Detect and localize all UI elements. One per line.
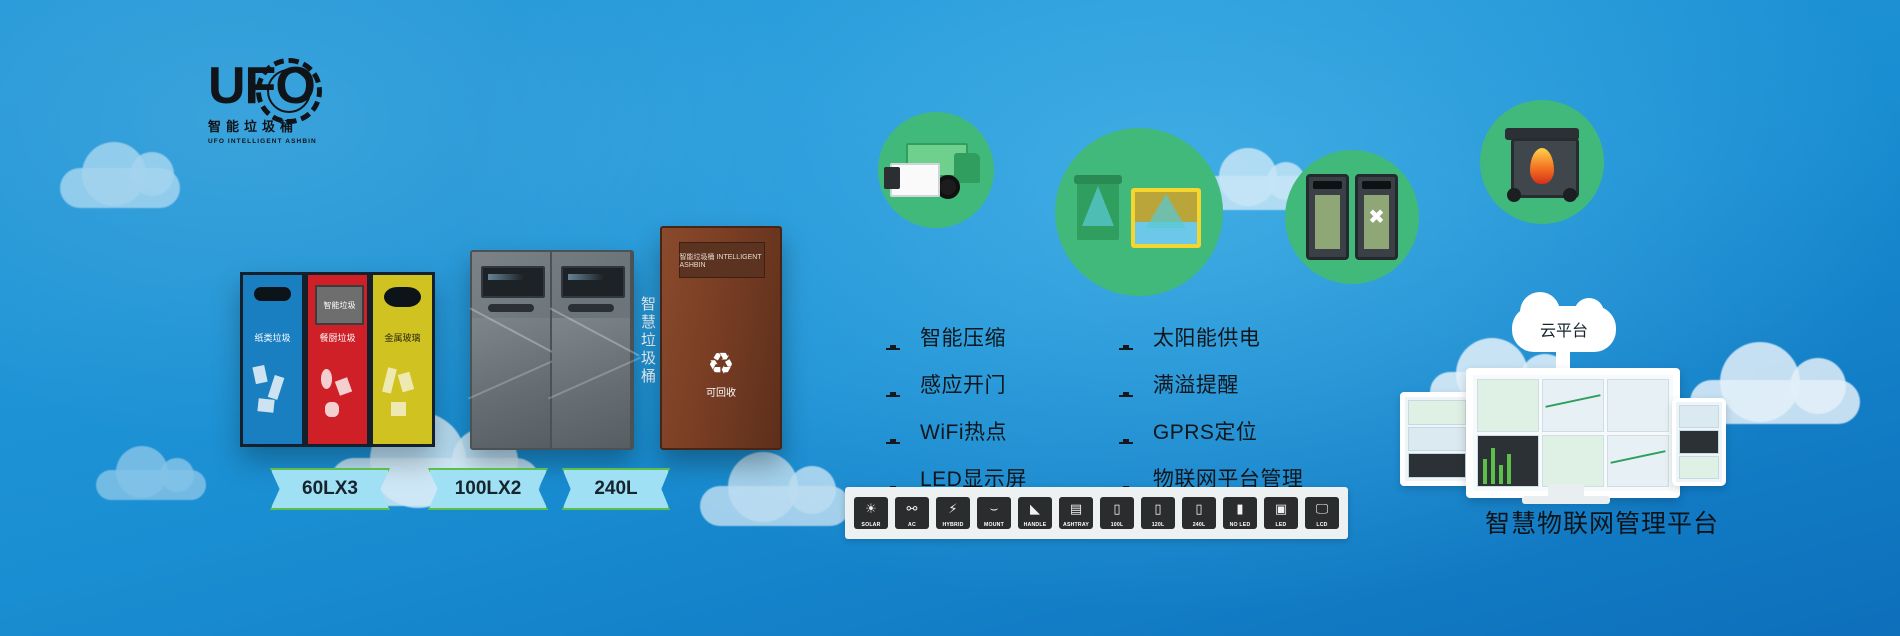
capacity-banner-100lx2: 100LX2 xyxy=(428,468,548,510)
spec-label: ASHTRAY xyxy=(1059,522,1093,528)
spec-label: HANDLE xyxy=(1018,522,1052,528)
bin-display-plate: 智能垃圾 xyxy=(315,285,364,325)
capacity-glyph: ▯ xyxy=(1147,500,1169,517)
feature-label: 智能压缩 xyxy=(920,322,1006,352)
fire-alarm-icon xyxy=(1503,122,1581,202)
overflow-detection-icon xyxy=(1077,174,1201,250)
lcd-glyph: 🖵 xyxy=(1311,500,1333,517)
dashboard-dark-panel xyxy=(1477,435,1539,488)
oval-slot-icon xyxy=(254,287,292,301)
dashboard-trend-panel xyxy=(1607,435,1669,488)
dashboard-chart-panel xyxy=(1542,379,1604,432)
platform-title: 智慧物联网管理平台 xyxy=(1452,504,1752,540)
feature-circle-fire-alarm xyxy=(1480,100,1604,224)
recycle-label: 可回收 xyxy=(662,384,780,399)
tablet-device xyxy=(1400,392,1474,486)
desktop-monitor xyxy=(1466,368,1680,498)
spec-label: 240L xyxy=(1182,522,1216,528)
monitor-icon xyxy=(1115,423,1137,439)
no-led-spec-icon: ▮ NO LED xyxy=(1223,497,1257,529)
cloud-platform-label: 云平台 xyxy=(1540,317,1588,341)
ufo-ring-icon xyxy=(256,58,322,124)
recycle-icon: ♻ xyxy=(704,348,738,382)
feature-item: WiFi热点 xyxy=(882,416,1027,446)
monitor-icon xyxy=(882,423,904,439)
ashtray-spec-icon: ▤ ASHTRAY xyxy=(1059,497,1093,529)
feature-label: WiFi热点 xyxy=(920,416,1007,446)
monitor-icon xyxy=(1115,329,1137,345)
solar-glyph: ☀ xyxy=(860,500,882,517)
phone-dashboard xyxy=(1676,402,1722,482)
monitor-icon xyxy=(882,470,904,486)
bin-screen xyxy=(481,266,544,298)
capacity-banner-60lx3: 60LX3 xyxy=(270,468,390,510)
dashboard-map-panel-2 xyxy=(1542,435,1604,488)
monitor-icon xyxy=(882,376,904,392)
bin-compartment-label: 金属玻璃 xyxy=(373,331,432,344)
mount-glyph: ⌣ xyxy=(983,500,1005,517)
spec-label: 100L xyxy=(1100,522,1134,528)
feature-circle-overflow-detection xyxy=(1055,128,1223,296)
capacity-240l-spec-icon: ▯ 240L xyxy=(1182,497,1216,529)
twin-bin-icon: ✖ xyxy=(1306,174,1398,260)
monitor-icon xyxy=(1115,470,1137,486)
dashboard-stat-panel xyxy=(1607,379,1669,432)
logo-english-name: UFO INTELLIGENT ASHBIN xyxy=(208,138,320,145)
feature-column-right: 太阳能供电 满溢提醒 GPRS定位 物联网平台管理 xyxy=(1115,322,1304,493)
spec-label: NO LED xyxy=(1223,522,1257,528)
bin-compartment xyxy=(552,252,632,448)
ashtray-glyph: ▤ xyxy=(1065,500,1087,517)
feature-item: 太阳能供电 xyxy=(1115,322,1304,352)
fleet-monitoring-icon xyxy=(890,139,982,201)
capacity-banner-240l: 240L xyxy=(562,468,670,510)
bin-body xyxy=(552,318,630,448)
product-triple-bin: 纸类垃圾 智能垃圾 餐厨垃圾 金属玻璃 xyxy=(240,272,435,447)
bin-compartment-kitchen: 智能垃圾 餐厨垃圾 xyxy=(305,272,370,447)
led-spec-icon: ▣ LED xyxy=(1264,497,1298,529)
hybrid-glyph: ⚡ xyxy=(942,500,964,517)
capacity-glyph: ▯ xyxy=(1188,500,1210,517)
spec-label: 120L xyxy=(1141,522,1175,528)
feature-circle-twin-bin: ✖ xyxy=(1285,150,1419,284)
mount-spec-icon: ⌣ MOUNT xyxy=(977,497,1011,529)
bin-compartment-label: 餐厨垃圾 xyxy=(308,331,367,344)
smartphone-device xyxy=(1672,398,1726,486)
monitor-icon xyxy=(1115,376,1137,392)
handle-glyph: ◣ xyxy=(1024,500,1046,517)
cloud-platform-badge: 云平台 xyxy=(1512,306,1616,352)
feature-item: 智能压缩 xyxy=(882,322,1027,352)
round-slot-icon xyxy=(384,287,422,307)
solar-spec-icon: ☀ SOLAR xyxy=(854,497,888,529)
bin-vertical-text: 智慧垃圾桶 xyxy=(637,296,658,386)
bin-slot-icon xyxy=(568,304,615,312)
ufo-inner-ring-icon xyxy=(267,69,311,113)
capacity-120l-spec-icon: ▯ 120L xyxy=(1141,497,1175,529)
spec-label: SOLAR xyxy=(854,522,888,528)
brand-logo: UFO 智能垃圾桶 UFO INTELLIGENT ASHBIN xyxy=(208,60,320,156)
cloud-decoration xyxy=(700,486,850,526)
bin-compartment-metal-glass: 金属玻璃 xyxy=(370,272,435,447)
bin-compartment-paper: 纸类垃圾 xyxy=(240,272,305,447)
spec-label: LED xyxy=(1264,522,1298,528)
lcd-spec-icon: 🖵 LCD xyxy=(1305,497,1339,529)
dashboard-map-panel xyxy=(1477,379,1539,432)
monitor-dashboard xyxy=(1473,375,1673,491)
ac-glyph: ⚯ xyxy=(901,500,923,517)
feature-item: 满溢提醒 xyxy=(1115,369,1304,399)
spec-icon-strip: ☀ SOLAR ⚯ AC ⚡ HYBRID ⌣ MOUNT ◣ HANDLE ▤… xyxy=(845,487,1348,539)
cloud-decoration xyxy=(60,168,180,208)
feature-label: 感应开门 xyxy=(920,369,1006,399)
monitor-icon xyxy=(882,329,904,345)
product-double-bin: 智慧垃圾桶 xyxy=(470,250,634,450)
bin-top-plate: 智能垃圾桶 INTELLIGENT ASHBIN xyxy=(679,242,766,278)
promotional-banner: UFO 智能垃圾桶 UFO INTELLIGENT ASHBIN 纸类垃圾 智能… xyxy=(0,0,1900,636)
feature-item: GPRS定位 xyxy=(1115,416,1304,446)
bin-body xyxy=(472,318,550,448)
capacity-glyph: ▯ xyxy=(1106,500,1128,517)
spec-label: HYBRID xyxy=(936,522,970,528)
bin-graphic xyxy=(249,351,296,434)
hybrid-power-spec-icon: ⚡ HYBRID xyxy=(936,497,970,529)
led-glyph: ▣ xyxy=(1270,500,1292,517)
handle-spec-icon: ◣ HANDLE xyxy=(1018,497,1052,529)
tablet-dashboard xyxy=(1405,397,1469,481)
feature-label: GPRS定位 xyxy=(1153,416,1258,446)
feature-circle-fleet-monitoring xyxy=(878,112,994,228)
spec-label: MOUNT xyxy=(977,522,1011,528)
feature-column-left: 智能压缩 感应开门 WiFi热点 LED显示屏 xyxy=(882,322,1027,493)
bin-graphic xyxy=(314,351,361,434)
spec-label: AC xyxy=(895,522,929,528)
bin-compartment xyxy=(472,252,552,448)
feature-item: 感应开门 xyxy=(882,369,1027,399)
feature-label: 满溢提醒 xyxy=(1153,369,1239,399)
product-wheelie-bin-240l: 智能垃圾桶 INTELLIGENT ASHBIN ♻ 可回收 xyxy=(660,226,782,450)
spec-label: LCD xyxy=(1305,522,1339,528)
bin-graphic xyxy=(379,351,426,434)
cloud-decoration xyxy=(96,470,206,500)
feature-list: 智能压缩 感应开门 WiFi热点 LED显示屏 太阳能供电 满溢提醒 xyxy=(882,322,1303,493)
capacity-100l-spec-icon: ▯ 100L xyxy=(1100,497,1134,529)
feature-label: 太阳能供电 xyxy=(1153,322,1261,352)
bin-slot-icon xyxy=(488,304,535,312)
no-led-glyph: ▮ xyxy=(1229,500,1251,517)
bin-compartment-label: 纸类垃圾 xyxy=(243,331,302,344)
monitor-base xyxy=(1522,496,1610,504)
bin-screen xyxy=(561,266,624,298)
ac-power-spec-icon: ⚯ AC xyxy=(895,497,929,529)
